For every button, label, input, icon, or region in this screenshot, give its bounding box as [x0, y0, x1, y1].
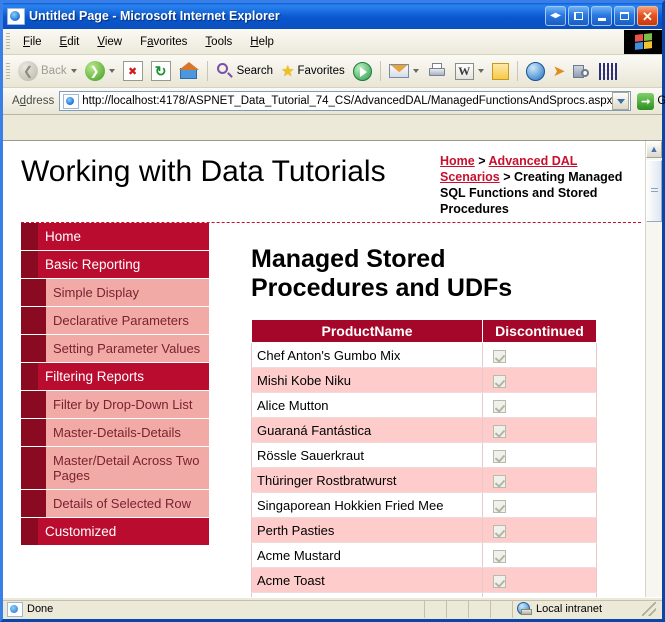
- toolbar-grip[interactable]: [6, 63, 10, 80]
- table-row: Thüringer Rostbratwurst: [252, 468, 597, 493]
- browser-window: Untitled Page - Microsoft Internet Explo…: [0, 0, 665, 622]
- close-button[interactable]: ✕: [637, 6, 658, 26]
- breadcrumb-sep-1: >: [475, 154, 489, 168]
- cell-discontinued: [483, 493, 597, 518]
- back-label: Back: [41, 65, 67, 77]
- status-segment-2: [446, 600, 468, 618]
- discontinued-checkbox: [493, 550, 506, 563]
- nav-simple-display[interactable]: Simple Display: [21, 279, 209, 307]
- scroll-up-button[interactable]: ▲: [646, 141, 662, 158]
- messenger-globe-icon: [526, 62, 545, 81]
- nav-declarative-parameters[interactable]: Declarative Parameters: [21, 307, 209, 335]
- print-button[interactable]: [423, 58, 451, 84]
- edit-button[interactable]: W: [451, 58, 488, 84]
- breadcrumb-home-link[interactable]: Home: [440, 154, 475, 168]
- nav-filtering-reports[interactable]: Filtering Reports: [21, 363, 209, 391]
- cell-discontinued: [483, 343, 597, 368]
- nav-details-of-selected-row[interactable]: Details of Selected Row: [21, 490, 209, 518]
- address-input[interactable]: http://localhost:4178/ASPNET_Data_Tutori…: [59, 91, 631, 111]
- encarta-button[interactable]: [595, 58, 621, 84]
- navigation-toolbar: ❮ Back ❯ Search ★: [3, 55, 662, 88]
- research-button[interactable]: [569, 58, 595, 84]
- refresh-button[interactable]: [147, 58, 175, 84]
- menu-favorites[interactable]: Favorites: [131, 33, 196, 51]
- discontinued-checkbox: [493, 425, 506, 438]
- security-zone-area[interactable]: Local intranet: [512, 600, 662, 618]
- forward-icon: ❯: [85, 61, 105, 81]
- cell-productname: Chef Anton's Gumbo Mix: [252, 343, 483, 368]
- browser-chrome: File Edit View Favorites Tools Help ❮ Ba…: [3, 29, 662, 619]
- nav-basic-reporting[interactable]: Basic Reporting: [21, 251, 209, 279]
- cell-discontinued: [483, 568, 597, 593]
- status-segment-1: [424, 600, 446, 618]
- encarta-icon: [599, 63, 617, 80]
- search-button[interactable]: Search: [212, 58, 277, 84]
- favorites-star-icon: ★: [281, 64, 294, 79]
- sidebar-nav: HomeBasic ReportingSimple DisplayDeclara…: [3, 223, 209, 618]
- search-icon: [216, 62, 234, 80]
- column-header-productname[interactable]: ProductName: [252, 320, 483, 343]
- group-restore-button[interactable]: [568, 6, 589, 26]
- table-row: Singaporean Hokkien Fried Mee: [252, 493, 597, 518]
- stop-button[interactable]: [119, 58, 147, 84]
- menu-grip[interactable]: [6, 33, 10, 50]
- discontinued-checkbox: [493, 400, 506, 413]
- status-bar: Done Local intranet: [3, 597, 662, 619]
- discontinued-checkbox: [493, 475, 506, 488]
- toolbar-separator: [207, 61, 208, 81]
- toolbar-separator-3: [517, 61, 518, 81]
- table-row: Alice Mutton: [252, 393, 597, 418]
- cell-discontinued: [483, 393, 597, 418]
- address-dropdown-button[interactable]: [612, 92, 629, 110]
- nav-home[interactable]: Home: [21, 223, 209, 251]
- cell-discontinued: [483, 418, 597, 443]
- window-controls: ◂▸ ✕: [545, 6, 662, 26]
- nav-customized[interactable]: Customized: [21, 518, 209, 546]
- table-row: Perth Pasties: [252, 518, 597, 543]
- windows-flag-logo: [624, 30, 662, 54]
- forward-button[interactable]: ❯: [81, 58, 119, 84]
- security-zone-text: Local intranet: [536, 603, 602, 615]
- discontinued-checkbox: [493, 350, 506, 363]
- scrollbar-track[interactable]: [646, 158, 662, 602]
- menu-file[interactable]: File: [14, 33, 51, 51]
- back-icon: ❮: [18, 61, 38, 81]
- notes-button[interactable]: [488, 58, 513, 84]
- page-content: Working with Data Tutorials Home > Advan…: [3, 141, 645, 619]
- cell-discontinued: [483, 518, 597, 543]
- cell-productname: Acme Toast: [252, 568, 483, 593]
- maximize-button[interactable]: [614, 6, 635, 26]
- edit-dropdown-icon[interactable]: [478, 69, 484, 73]
- page-title: Managed Stored Procedures and UDFs: [251, 245, 551, 303]
- cell-productname: Guaraná Fantástica: [252, 418, 483, 443]
- cell-productname: Thüringer Rostbratwurst: [252, 468, 483, 493]
- home-button[interactable]: [175, 58, 203, 84]
- intranet-zone-icon: [517, 602, 532, 616]
- favorites-label: Favorites: [297, 65, 344, 77]
- search-label: Search: [237, 65, 273, 77]
- table-row: Guaraná Fantástica: [252, 418, 597, 443]
- ie-page-icon: [7, 8, 25, 25]
- breadcrumb: Home > Advanced DAL Scenarios > Creating…: [440, 153, 640, 217]
- menu-view[interactable]: View: [88, 33, 131, 51]
- favorites-button[interactable]: ★ Favorites: [277, 58, 349, 84]
- cell-productname: Alice Mutton: [252, 393, 483, 418]
- refresh-icon: [151, 61, 171, 81]
- discontinued-checkbox: [493, 525, 506, 538]
- media-button[interactable]: [349, 58, 376, 84]
- cell-discontinued: [483, 468, 597, 493]
- cell-discontinued: [483, 443, 597, 468]
- table-row: Acme Toast: [252, 568, 597, 593]
- menu-tools[interactable]: Tools: [196, 33, 241, 51]
- mail-icon: [389, 64, 409, 78]
- status-text: Done: [27, 603, 53, 615]
- discontinued-checkbox: [493, 375, 506, 388]
- research-icon: [573, 63, 591, 80]
- msn-button[interactable]: ➤: [549, 58, 570, 84]
- back-button[interactable]: ❮ Back: [14, 58, 81, 84]
- toolbar-separator-2: [380, 61, 381, 81]
- products-grid: ProductName Discontinued Chef Anton's Gu…: [251, 319, 597, 618]
- menu-bar: File Edit View Favorites Tools Help: [3, 29, 662, 55]
- cell-productname: Mishi Kobe Niku: [252, 368, 483, 393]
- column-header-discontinued[interactable]: Discontinued: [483, 320, 597, 343]
- page-viewport: Working with Data Tutorials Home > Advan…: [3, 140, 662, 619]
- address-bar: Address http://localhost:4178/ASPNET_Dat…: [3, 88, 662, 115]
- status-page-icon: [7, 602, 23, 617]
- minimize-button[interactable]: [591, 6, 612, 26]
- cell-productname: Singaporean Hokkien Fried Mee: [252, 493, 483, 518]
- print-icon: [427, 63, 447, 79]
- cell-productname: Rössle Sauerkraut: [252, 443, 483, 468]
- vertical-scrollbar[interactable]: ▲ ▼: [645, 141, 662, 619]
- status-message-area: Done: [3, 600, 424, 618]
- scrollbar-thumb[interactable]: [646, 160, 662, 222]
- nav-master-detail-across-two-pages[interactable]: Master/Detail Across Two Pages: [21, 447, 209, 490]
- nav-filter-by-drop-down-list[interactable]: Filter by Drop-Down List: [21, 391, 209, 419]
- forward-dropdown-icon[interactable]: [109, 69, 115, 73]
- address-label: Address: [10, 95, 59, 107]
- messenger-button[interactable]: [522, 58, 549, 84]
- table-row: Mishi Kobe Niku: [252, 368, 597, 393]
- breadcrumb-sep-2: >: [500, 170, 514, 184]
- nav-master-details-details[interactable]: Master-Details-Details: [21, 419, 209, 447]
- cell-discontinued: [483, 543, 597, 568]
- discontinued-checkbox: [493, 450, 506, 463]
- grid-header-row: ProductName Discontinued: [252, 320, 597, 343]
- cell-productname: Perth Pasties: [252, 518, 483, 543]
- go-button[interactable]: ➞ Go: [631, 93, 665, 110]
- discontinued-checkbox: [493, 500, 506, 513]
- page-icon: [63, 94, 79, 109]
- go-label: Go: [657, 95, 665, 107]
- main-content: Managed Stored Procedures and UDFs Produ…: [209, 223, 645, 618]
- edit-word-icon: W: [455, 63, 474, 80]
- stop-icon: [123, 61, 143, 81]
- go-arrow-icon: ➞: [637, 93, 654, 110]
- resize-restore-button[interactable]: ◂▸: [545, 6, 566, 26]
- msn-icon: ➤: [553, 64, 566, 79]
- mail-dropdown-icon[interactable]: [413, 69, 419, 73]
- menu-edit[interactable]: Edit: [51, 33, 89, 51]
- table-row: Chef Anton's Gumbo Mix: [252, 343, 597, 368]
- table-row: Acme Mustard: [252, 543, 597, 568]
- media-icon: [353, 62, 372, 81]
- menu-help[interactable]: Help: [241, 33, 283, 51]
- address-url-text: http://localhost:4178/ASPNET_Data_Tutori…: [82, 95, 612, 107]
- cell-productname: Acme Mustard: [252, 543, 483, 568]
- window-title: Untitled Page - Microsoft Internet Explo…: [29, 9, 280, 23]
- status-segment-3: [468, 600, 490, 618]
- notes-icon: [492, 63, 509, 80]
- window-resize-grip[interactable]: [642, 602, 656, 616]
- table-row: Rössle Sauerkraut: [252, 443, 597, 468]
- back-dropdown-icon[interactable]: [71, 69, 77, 73]
- nav-setting-parameter-values[interactable]: Setting Parameter Values: [21, 335, 209, 363]
- title-bar: Untitled Page - Microsoft Internet Explo…: [3, 3, 662, 29]
- discontinued-checkbox: [493, 575, 506, 588]
- cell-discontinued: [483, 368, 597, 393]
- home-icon: [179, 62, 199, 80]
- status-segment-4: [490, 600, 512, 618]
- mail-button[interactable]: [385, 58, 423, 84]
